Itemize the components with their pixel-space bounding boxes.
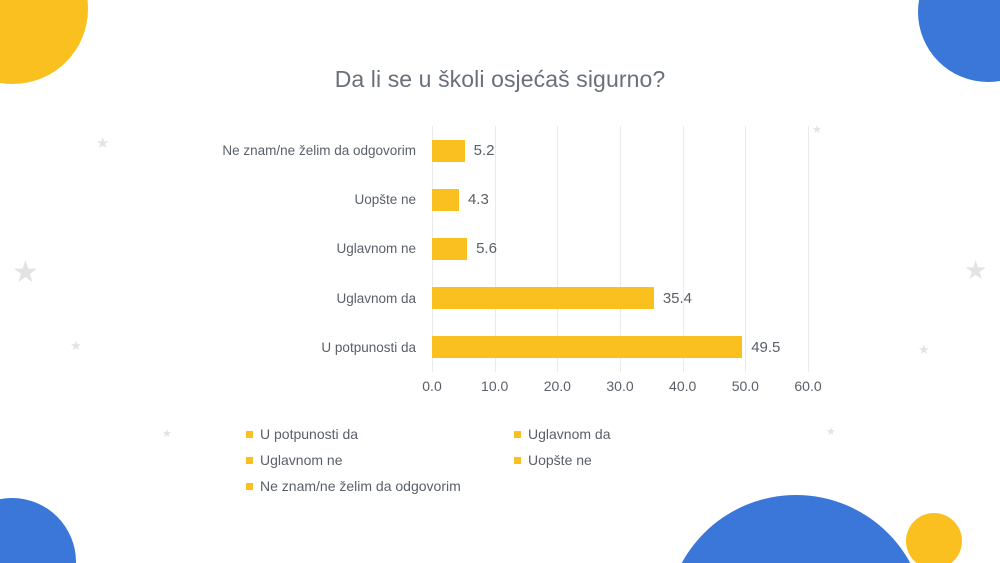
category-label: Uglavnom da: [336, 274, 416, 323]
x-axis-tick-labels: 0.010.020.030.040.050.060.0: [432, 378, 808, 400]
bar-row: 5.6: [432, 224, 808, 273]
x-tick-label: 30.0: [606, 378, 633, 394]
legend-item-label: Uglavnom da: [528, 426, 611, 442]
category-axis-labels: Ne znam/ne želim da odgovorimUopšte neUg…: [0, 126, 424, 372]
bar-value-label: 5.6: [476, 240, 497, 257]
x-tick-label: 60.0: [794, 378, 821, 394]
legend-item[interactable]: Uopšte ne: [514, 452, 592, 468]
legend-marker-icon: [514, 457, 521, 464]
bar-row: 49.5: [432, 323, 808, 372]
category-label: Uglavnom ne: [336, 224, 416, 273]
legend-item-label: Uopšte ne: [528, 452, 592, 468]
bar-value-label: 49.5: [751, 339, 780, 356]
bar: [432, 189, 459, 211]
legend-item[interactable]: Ne znam/ne želim da odgovorim: [246, 478, 514, 494]
gridline: [808, 126, 809, 372]
legend-item[interactable]: Uglavnom ne: [246, 452, 514, 468]
legend-row: U potpunosti daUglavnom da: [246, 421, 666, 447]
category-label: U potpunosti da: [321, 323, 416, 372]
x-tick-label: 50.0: [732, 378, 759, 394]
x-tick-label: 20.0: [544, 378, 571, 394]
category-label: Uopšte ne: [354, 175, 416, 224]
chart-legend: U potpunosti daUglavnom daUglavnom neUop…: [246, 421, 666, 499]
bar: [432, 140, 465, 162]
legend-item-label: Ne znam/ne želim da odgovorim: [260, 478, 461, 494]
bar-row: 5.2: [432, 126, 808, 175]
legend-marker-icon: [514, 431, 521, 438]
legend-marker-icon: [246, 483, 253, 490]
legend-row: Uglavnom neUopšte ne: [246, 447, 666, 473]
bar: [432, 287, 654, 309]
legend-marker-icon: [246, 457, 253, 464]
category-label: Ne znam/ne želim da odgovorim: [222, 126, 416, 175]
bar-value-label: 4.3: [468, 191, 489, 208]
bar-chart: Da li se u školi osjećaš sigurno? Ne zna…: [0, 0, 1000, 563]
bar-value-label: 5.2: [474, 142, 495, 159]
legend-item-label: U potpunosti da: [260, 426, 358, 442]
chart-title: Da li se u školi osjećaš sigurno?: [0, 66, 1000, 93]
legend-item[interactable]: U potpunosti da: [246, 426, 514, 442]
bar-row: 4.3: [432, 175, 808, 224]
bar-value-label: 35.4: [663, 290, 692, 307]
legend-row: Ne znam/ne želim da odgovorim: [246, 473, 666, 499]
legend-item-label: Uglavnom ne: [260, 452, 343, 468]
plot-area: 5.24.35.635.449.5: [432, 126, 808, 372]
bar: [432, 336, 742, 358]
legend-item[interactable]: Uglavnom da: [514, 426, 611, 442]
x-tick-label: 0.0: [422, 378, 441, 394]
x-tick-label: 40.0: [669, 378, 696, 394]
x-tick-label: 10.0: [481, 378, 508, 394]
bar: [432, 238, 467, 260]
legend-marker-icon: [246, 431, 253, 438]
bar-row: 35.4: [432, 274, 808, 323]
